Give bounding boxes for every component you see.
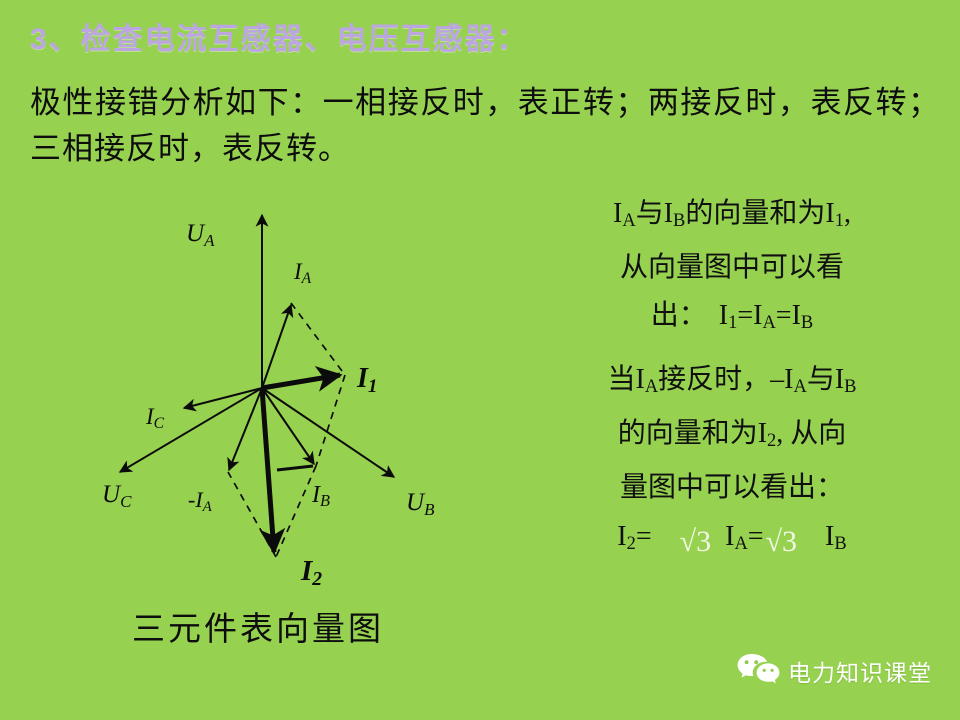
vector-UB bbox=[262, 388, 394, 477]
label-UC: UC bbox=[102, 481, 132, 511]
text-dang-i: 当I bbox=[607, 364, 644, 395]
page-title: 3、检查电流互感器、电压互感器： bbox=[30, 14, 529, 58]
text-yu-i: 与I bbox=[636, 198, 673, 229]
label-UA: UA bbox=[186, 220, 215, 250]
text-chu: 出： bbox=[651, 300, 707, 331]
text-reversed: 接反时， bbox=[658, 364, 770, 395]
subscript-a2: A bbox=[762, 312, 775, 332]
subscript-a3: A bbox=[645, 376, 658, 396]
label-I2: I2 bbox=[300, 555, 322, 590]
label-IA: IA bbox=[293, 259, 312, 287]
explanation-paragraph-1-line-3: 出：I1=IA=IB bbox=[512, 294, 952, 344]
subscript-b3: B bbox=[844, 376, 856, 396]
vector-IC bbox=[184, 388, 262, 408]
label-IB: IB bbox=[311, 482, 330, 510]
explanation-column: IA与IB的向量和为I1, 从向量图中可以看 出：I1=IA=IB 当IA接反时… bbox=[512, 192, 952, 569]
text-eq-ia: =I bbox=[737, 300, 762, 331]
vector-I2 bbox=[262, 388, 274, 552]
text-yu-ib: 与I bbox=[807, 364, 844, 395]
vector-IA bbox=[262, 305, 291, 388]
formula-rhs-sub: B bbox=[834, 533, 846, 553]
formula-eq2: = bbox=[748, 521, 764, 552]
subscript-b: B bbox=[673, 210, 685, 230]
formula-lhs-sub: 2 bbox=[627, 533, 636, 553]
formula-mid-sub: A bbox=[734, 533, 747, 553]
subscript-1: 1 bbox=[835, 210, 844, 230]
text-i1: I bbox=[719, 300, 728, 331]
subscript-a: A bbox=[622, 210, 635, 230]
slide-canvas: 3、检查电流互感器、电压互感器： 极性接错分析如下：一相接反时，表正转；两接反时… bbox=[0, 0, 960, 720]
diagram-caption: 三元件表向量图 bbox=[132, 602, 384, 650]
vector-UC bbox=[120, 388, 262, 472]
vector-I1 bbox=[262, 375, 340, 388]
formula-i2: I2=√3IA=√3IB bbox=[512, 514, 952, 565]
wechat-icon bbox=[736, 652, 780, 689]
formula-eq1: = bbox=[636, 521, 652, 552]
watermark-text: 电力知识课堂 bbox=[788, 654, 932, 688]
explanation-paragraph-2-line-2: 的向量和为I2, 从向 bbox=[512, 412, 952, 462]
formula-lhs: I bbox=[617, 521, 626, 552]
label-minus-IA: -IA bbox=[188, 487, 213, 515]
intro-paragraph: 极性接错分析如下：一相接反时，表正转；两接反时，表反转；三相接反时，表反转。 bbox=[30, 80, 940, 172]
text-from-vector: , 从向 bbox=[776, 418, 846, 449]
text-comma: , bbox=[844, 198, 851, 229]
subscript-b2: B bbox=[801, 312, 813, 332]
sqrt3-second: √3 bbox=[764, 520, 799, 564]
explanation-paragraph-2-line-3: 量图中可以看出： bbox=[512, 466, 952, 510]
subscript-a4: A bbox=[794, 376, 807, 396]
subscript-2: 2 bbox=[767, 430, 776, 450]
explanation-paragraph-1-line-2: 从向量图中可以看 bbox=[512, 246, 952, 290]
subscript-1b: 1 bbox=[728, 312, 737, 332]
explanation-paragraph-1-line-1: IA与IB的向量和为I1, bbox=[512, 192, 952, 242]
phasor-vectors-thin bbox=[120, 215, 394, 477]
explanation-paragraph-2-line-1: 当IA接反时，–IA与IB bbox=[512, 358, 952, 408]
text-sum-is-i2: 的向量和为I bbox=[618, 418, 767, 449]
formula-rhs: I bbox=[825, 521, 834, 552]
label-IC: IC bbox=[145, 404, 165, 432]
phasor-vectors-thick bbox=[262, 375, 340, 552]
vector-IB bbox=[262, 388, 314, 464]
wechat-watermark: 电力知识课堂 bbox=[736, 652, 932, 689]
sqrt3-first: √3 bbox=[678, 520, 713, 564]
text-minus-ia: –I bbox=[770, 364, 793, 395]
phasor-diagram: UA IA I1 UB IB I2 -IA IC UC bbox=[60, 185, 520, 595]
text-i: I bbox=[613, 198, 622, 229]
text-eq-ib: =I bbox=[776, 300, 801, 331]
text-sum-is-i: 的向量和为I bbox=[685, 198, 834, 229]
label-I1: I1 bbox=[356, 363, 377, 397]
vector-minus-IA bbox=[229, 388, 262, 470]
label-UB: UB bbox=[406, 489, 435, 519]
phasor-labels: UA IA I1 UB IB I2 -IA IC UC bbox=[102, 220, 435, 590]
right-angle-tick bbox=[277, 466, 313, 470]
